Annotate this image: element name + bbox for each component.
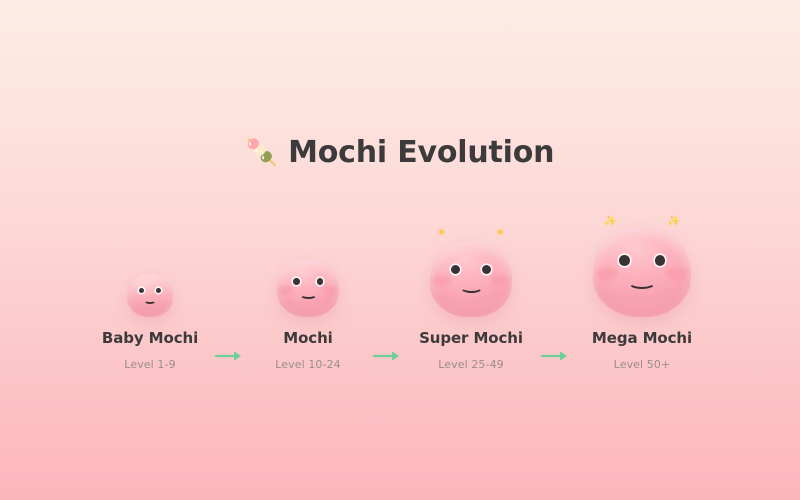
mochi-figure-super-mochi: ✦ ✦ — [411, 207, 531, 317]
sparkle-left-icon: ✦ — [437, 227, 446, 238]
left-eye — [293, 278, 300, 285]
stage-name: Baby Mochi — [102, 329, 198, 347]
stage-level: Level 1-9 — [124, 358, 175, 371]
right-cheek — [323, 286, 337, 295]
sparkle-right-icon: ✦ — [496, 227, 505, 238]
mouth — [628, 276, 656, 289]
mochi-figure-mega-mochi: ✨ ✨ — [582, 207, 702, 317]
evolution-stage-mega-mochi[interactable]: ✨ ✨ Mega Mochi Level 50+ — [579, 207, 705, 371]
right-eye — [655, 255, 666, 266]
left-cheek — [279, 286, 293, 295]
right-eye — [482, 265, 491, 274]
right-cheek — [491, 275, 509, 286]
evolution-arrow-1 — [205, 261, 253, 371]
arrow-right-icon — [540, 349, 570, 363]
evolution-stage-mochi[interactable]: Mochi Level 10-24 — [253, 207, 363, 371]
left-cheek — [433, 275, 451, 286]
mochi-figure-baby-mochi — [90, 207, 210, 317]
left-cheek — [597, 267, 618, 280]
left-eye — [619, 255, 630, 266]
right-cheek — [666, 267, 687, 280]
right-eye — [317, 278, 324, 285]
stage-level: Level 10-24 — [275, 358, 341, 371]
stage-name: Mega Mochi — [592, 329, 692, 347]
stage-level: Level 50+ — [614, 358, 671, 371]
mochi-figure-mochi — [248, 207, 368, 317]
left-eye — [139, 288, 144, 293]
mochi-body — [430, 241, 512, 317]
right-eye — [156, 288, 161, 293]
evolution-stage-super-mochi[interactable]: ✦ ✦ Super Mochi Level 25-49 — [411, 207, 531, 371]
mochi-body — [593, 227, 691, 317]
mochi-evolution-page: 🍡 Mochi Evolution Baby Mochi Level 1-9 — [0, 0, 800, 500]
page-title: 🍡 Mochi Evolution — [246, 131, 555, 173]
mochi-body — [277, 259, 339, 317]
dango-icon: 🍡 — [246, 140, 278, 166]
stage-name: Mochi — [283, 329, 332, 347]
arrow-right-icon — [372, 349, 402, 363]
mouth — [300, 291, 317, 299]
arrow-right-icon — [214, 349, 244, 363]
mouth — [144, 298, 156, 304]
stage-name: Super Mochi — [419, 329, 523, 347]
evolution-stage-baby-mochi[interactable]: Baby Mochi Level 1-9 — [95, 207, 205, 371]
left-eye — [451, 265, 460, 274]
evolution-arrow-3 — [531, 261, 579, 371]
stage-level: Level 25-49 — [438, 358, 504, 371]
sparkle-left-icon: ✨ — [604, 217, 616, 227]
page-title-text: Mochi Evolution — [288, 135, 554, 170]
mouth — [460, 282, 483, 293]
evolution-arrow-2 — [363, 261, 411, 371]
evolution-chain: Baby Mochi Level 1-9 Mochi Leve — [50, 207, 750, 371]
sparkle-right-icon: ✨ — [668, 217, 680, 227]
mochi-body — [127, 274, 173, 317]
